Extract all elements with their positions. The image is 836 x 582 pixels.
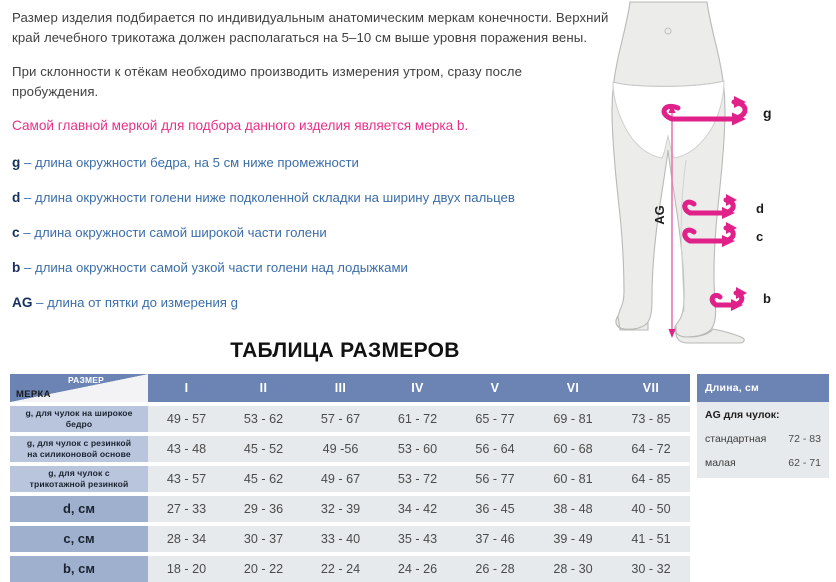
- body-silhouette: [612, 2, 744, 343]
- cell: 39 - 49: [534, 526, 612, 552]
- row-label-line: g, для чулок с резинкой: [10, 438, 148, 449]
- table-title: ТАБЛИЦА РАЗМЕРОВ: [0, 339, 690, 363]
- table-row: d, см 27 - 33 29 - 36 32 - 39 34 - 42 36…: [10, 496, 690, 522]
- cell: 45 - 52: [225, 436, 302, 462]
- intro-paragraph-2: При склонности к отёкам необходимо произ…: [12, 62, 612, 101]
- cell: 56 - 64: [456, 436, 534, 462]
- legend-item-b: b – длина окружности самой узкой части г…: [12, 259, 612, 276]
- legend-key-d: d: [12, 190, 20, 205]
- size-column-header-6: VI: [534, 374, 612, 402]
- row-label-line: g, для чулок с: [10, 468, 148, 479]
- row-label-line: d, см: [10, 501, 148, 517]
- cell: 73 - 85: [612, 406, 690, 432]
- g-label-figure: g: [763, 105, 772, 121]
- corner-measure-label: МЕРКА: [16, 389, 51, 400]
- size-chart-page: Размер изделия подбирается по индивидуал…: [0, 0, 836, 571]
- table-row: g, для чулок на широкое бедро 49 - 57 53…: [10, 406, 690, 432]
- legend-text-ag: длина от пятки до измерения g: [47, 295, 238, 310]
- legend-item-ag: AG – длина от пятки до измерения g: [12, 294, 612, 311]
- legend-item-d: d – длина окружности голени ниже подколе…: [12, 189, 612, 206]
- legend-text-c: длина окружности самой широкой части гол…: [34, 225, 327, 240]
- legend-text-g: длина окружности бедра, на 5 см ниже про…: [35, 155, 359, 170]
- cell: 57 - 67: [302, 406, 379, 432]
- length-panel: Длина, см AG для чулок: стандартная 72 -…: [697, 374, 829, 478]
- size-column-header-7: VII: [612, 374, 690, 402]
- legend-dash: –: [24, 260, 31, 275]
- cell: 64 - 85: [612, 466, 690, 492]
- row-label-line: бедро: [10, 419, 148, 430]
- instructions-column: Размер изделия подбирается по индивидуал…: [12, 8, 612, 329]
- row-label-line: на силиконовой основе: [10, 449, 148, 460]
- table-header-row: РАЗМЕР МЕРКА I II III IV V VI VII: [10, 374, 690, 402]
- size-column-header-5: V: [456, 374, 534, 402]
- cell: 41 - 51: [612, 526, 690, 552]
- legend-dash: –: [24, 155, 31, 170]
- row-label-d: d, см: [10, 496, 148, 522]
- legend-key-g: g: [12, 155, 20, 170]
- row-label-g-knit: g, для чулок с трикотажной резинкой: [10, 466, 148, 492]
- cell: 20 - 22: [225, 556, 302, 582]
- length-row-name: стандартная: [705, 433, 766, 445]
- cell: 18 - 20: [148, 556, 225, 582]
- size-column-header-3: III: [302, 374, 379, 402]
- cell: 32 - 39: [302, 496, 379, 522]
- cell: 61 - 72: [379, 406, 456, 432]
- length-row-value: 62 - 71: [788, 457, 821, 469]
- cell: 26 - 28: [456, 556, 534, 582]
- length-row-small: малая 62 - 71: [705, 457, 821, 469]
- cell: 24 - 26: [379, 556, 456, 582]
- cell: 69 - 81: [534, 406, 612, 432]
- legend-key-c: c: [12, 225, 20, 240]
- length-panel-body: AG для чулок: стандартная 72 - 83 малая …: [697, 402, 829, 478]
- cell: 40 - 50: [612, 496, 690, 522]
- row-label-line: b, см: [10, 561, 148, 577]
- cell: 43 - 48: [148, 436, 225, 462]
- cell: 33 - 40: [302, 526, 379, 552]
- size-column-header-2: II: [225, 374, 302, 402]
- row-label-line: трикотажной резинкой: [10, 479, 148, 490]
- cell: 65 - 77: [456, 406, 534, 432]
- row-label-line: c, см: [10, 531, 148, 547]
- size-table: РАЗМЕР МЕРКА I II III IV V VI VII g, для…: [10, 374, 690, 582]
- cell: 53 - 60: [379, 436, 456, 462]
- cell: 30 - 37: [225, 526, 302, 552]
- cell: 49 - 57: [148, 406, 225, 432]
- cell: 38 - 48: [534, 496, 612, 522]
- cell: 53 - 72: [379, 466, 456, 492]
- legend-text-d: длина окружности голени ниже подколенной…: [35, 190, 515, 205]
- leg-measurement-diagram: AG g d c: [600, 0, 836, 350]
- b-label-figure: b: [763, 291, 771, 306]
- cell: 60 - 81: [534, 466, 612, 492]
- row-label-g-silicone: g, для чулок с резинкой на силиконовой о…: [10, 436, 148, 462]
- cell: 34 - 42: [379, 496, 456, 522]
- cell: 28 - 34: [148, 526, 225, 552]
- legend-dash: –: [23, 225, 30, 240]
- ag-label: AG: [652, 205, 667, 225]
- table-corner-cell: РАЗМЕР МЕРКА: [10, 374, 148, 402]
- cell: 56 - 77: [456, 466, 534, 492]
- row-label-b: b, см: [10, 556, 148, 582]
- d-label-figure: d: [756, 201, 764, 216]
- length-row-name: малая: [705, 457, 736, 469]
- table-row: g, для чулок с резинкой на силиконовой о…: [10, 436, 690, 462]
- legend-dash: –: [36, 295, 43, 310]
- length-panel-header: Длина, см: [697, 374, 829, 402]
- cell: 53 - 62: [225, 406, 302, 432]
- cell: 45 - 62: [225, 466, 302, 492]
- cell: 49 - 67: [302, 466, 379, 492]
- cell: 28 - 30: [534, 556, 612, 582]
- measurement-legend: g – длина окружности бедра, на 5 см ниже…: [12, 154, 612, 311]
- row-label-c: c, см: [10, 526, 148, 552]
- cell: 60 - 68: [534, 436, 612, 462]
- cell: 36 - 45: [456, 496, 534, 522]
- length-panel-title: AG для чулок:: [705, 409, 821, 421]
- legend-item-c: c – длина окружности самой широкой части…: [12, 224, 612, 241]
- cell: 35 - 43: [379, 526, 456, 552]
- legend-dash: –: [24, 190, 31, 205]
- c-label-figure: c: [756, 229, 763, 244]
- intro-paragraph-1: Размер изделия подбирается по индивидуал…: [12, 8, 612, 47]
- table-row: g, для чулок с трикотажной резинкой 43 -…: [10, 466, 690, 492]
- legend-item-g: g – длина окружности бедра, на 5 см ниже…: [12, 154, 612, 171]
- cell: 27 - 33: [148, 496, 225, 522]
- key-measure-note: Самой главной меркой для подбора данного…: [12, 116, 612, 136]
- size-column-header-4: IV: [379, 374, 456, 402]
- cell: 49 -56: [302, 436, 379, 462]
- cell: 22 - 24: [302, 556, 379, 582]
- corner-size-label: РАЗМЕР: [68, 375, 104, 385]
- row-label-line: g, для чулок на широкое: [10, 408, 148, 419]
- length-row-standard: стандартная 72 - 83: [705, 433, 821, 445]
- length-row-value: 72 - 83: [788, 433, 821, 445]
- legend-text-b: длина окружности самой узкой части голен…: [35, 260, 408, 275]
- table-row: b, см 18 - 20 20 - 22 22 - 24 24 - 26 26…: [10, 556, 690, 582]
- cell: 43 - 57: [148, 466, 225, 492]
- cell: 30 - 32: [612, 556, 690, 582]
- cell: 29 - 36: [225, 496, 302, 522]
- size-column-header-1: I: [148, 374, 225, 402]
- row-label-g-wide: g, для чулок на широкое бедро: [10, 406, 148, 432]
- cell: 37 - 46: [456, 526, 534, 552]
- table-row: c, см 28 - 34 30 - 37 33 - 40 35 - 43 37…: [10, 526, 690, 552]
- size-table-wrapper: РАЗМЕР МЕРКА I II III IV V VI VII g, для…: [10, 374, 690, 582]
- cell: 64 - 72: [612, 436, 690, 462]
- legend-key-b: b: [12, 260, 20, 275]
- legend-key-ag: AG: [12, 295, 32, 310]
